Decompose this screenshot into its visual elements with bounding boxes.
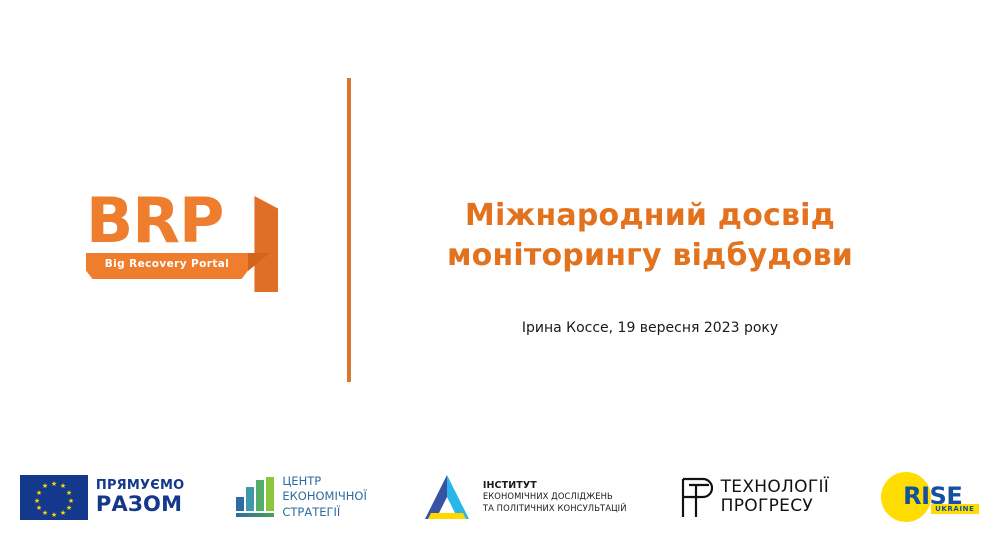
rise-logo-badge: UKRAINE xyxy=(931,504,978,514)
logo-institute-for-economic-research: ІНСТИТУТ ЕКОНОМІЧНИХ ДОСЛІДЖЕНЬ ТА ПОЛІТ… xyxy=(419,469,627,525)
brp-logo-letters: BRP xyxy=(86,190,236,252)
ier-logo-line-1: ІНСТИТУТ xyxy=(483,480,627,491)
partner-logo-strip: ★ ★ ★ ★ ★ ★ ★ ★ ★ ★ ★ ★ ПРЯМУЄМО РАЗОМ xyxy=(0,462,993,532)
eu-logo-text: ПРЯМУЄМО РАЗОМ xyxy=(96,478,185,516)
tp-logo-line-2: ПРОГРЕСУ xyxy=(721,497,830,516)
rise-logo-mark: RISE UKRAINE xyxy=(881,472,973,522)
slide-subtitle: Ірина Коссе, 19 вересня 2023 року xyxy=(400,320,900,336)
triangle-icon xyxy=(419,473,475,521)
slide-title-line-1: Міжнародний досвід xyxy=(400,196,900,236)
ier-logo-line-3: ТА ПОЛІТИЧНИХ КОНСУЛЬТАЦІЙ xyxy=(483,503,627,515)
tp-logo-line-1: ТЕХНОЛОГІЇ xyxy=(721,478,830,497)
ces-logo-line-3: СТРАТЕГІЇ xyxy=(282,505,366,521)
logo-rise-ukraine: RISE UKRAINE xyxy=(881,469,973,525)
title-block: Міжнародний досвід моніторингу відбудови xyxy=(400,196,900,276)
tp-monogram-icon xyxy=(679,475,713,519)
presentation-slide: BRP Big Recovery Portal Міжнародний досв… xyxy=(0,0,993,537)
ces-logo-line-2: ЕКОНОМІЧНОЇ xyxy=(282,489,366,505)
ces-logo-line-1: ЦЕНТР xyxy=(282,474,366,490)
ier-logo-text: ІНСТИТУТ ЕКОНОМІЧНИХ ДОСЛІДЖЕНЬ ТА ПОЛІТ… xyxy=(483,480,627,515)
logo-tehnologii-progresu: ТЕХНОЛОГІЇ ПРОГРЕСУ xyxy=(679,469,830,525)
brp-logo: BRP Big Recovery Portal xyxy=(86,196,261,292)
tp-logo-text: ТЕХНОЛОГІЇ ПРОГРЕСУ xyxy=(721,478,830,516)
vertical-divider xyxy=(347,78,351,382)
logo-prjamuemo-razom: ★ ★ ★ ★ ★ ★ ★ ★ ★ ★ ★ ★ ПРЯМУЄМО РАЗОМ xyxy=(20,469,185,525)
brp-logo-banner: Big Recovery Portal xyxy=(86,253,248,279)
ier-logo-line-2: ЕКОНОМІЧНИХ ДОСЛІДЖЕНЬ xyxy=(483,491,627,503)
eu-flag-icon: ★ ★ ★ ★ ★ ★ ★ ★ ★ ★ ★ ★ xyxy=(20,475,88,520)
ces-logo-text: ЦЕНТР ЕКОНОМІЧНОЇ СТРАТЕГІЇ xyxy=(282,474,366,521)
bar-chart-icon xyxy=(236,477,274,517)
brp-logo-tagline: Big Recovery Portal xyxy=(86,258,248,270)
slide-title-line-2: моніторингу відбудови xyxy=(400,236,900,276)
eu-logo-line-2: РАЗОМ xyxy=(96,492,185,516)
eu-logo-line-1: ПРЯМУЄМО xyxy=(96,478,185,493)
logo-centre-for-economic-strategy: ЦЕНТР ЕКОНОМІЧНОЇ СТРАТЕГІЇ xyxy=(236,469,366,525)
